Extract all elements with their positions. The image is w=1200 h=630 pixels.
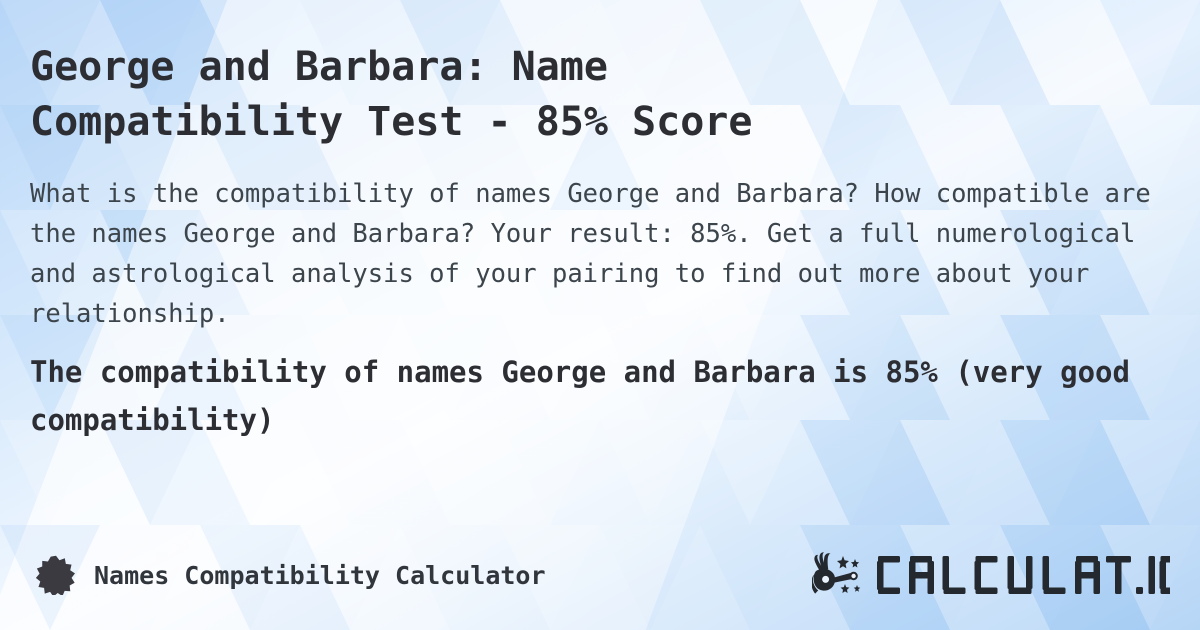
hand-magic-wand-icon	[812, 551, 868, 599]
share-card: George and Barbara: Name Compatibility T…	[0, 0, 1200, 630]
result-statement: The compatibility of names George and Ba…	[30, 348, 1150, 444]
logo-wordmark	[874, 552, 1170, 598]
page-title: George and Barbara: Name Compatibility T…	[30, 40, 790, 150]
card-footer: Names Compatibility Calculator	[0, 520, 1200, 630]
page-description: What is the compatibility of names Georg…	[30, 174, 1170, 334]
brand-name-label: Names Compatibility Calculator	[94, 561, 546, 590]
brand-block[interactable]: Names Compatibility Calculator	[36, 555, 546, 595]
starburst-icon	[36, 555, 76, 595]
calculatio-logo[interactable]	[812, 551, 1170, 599]
